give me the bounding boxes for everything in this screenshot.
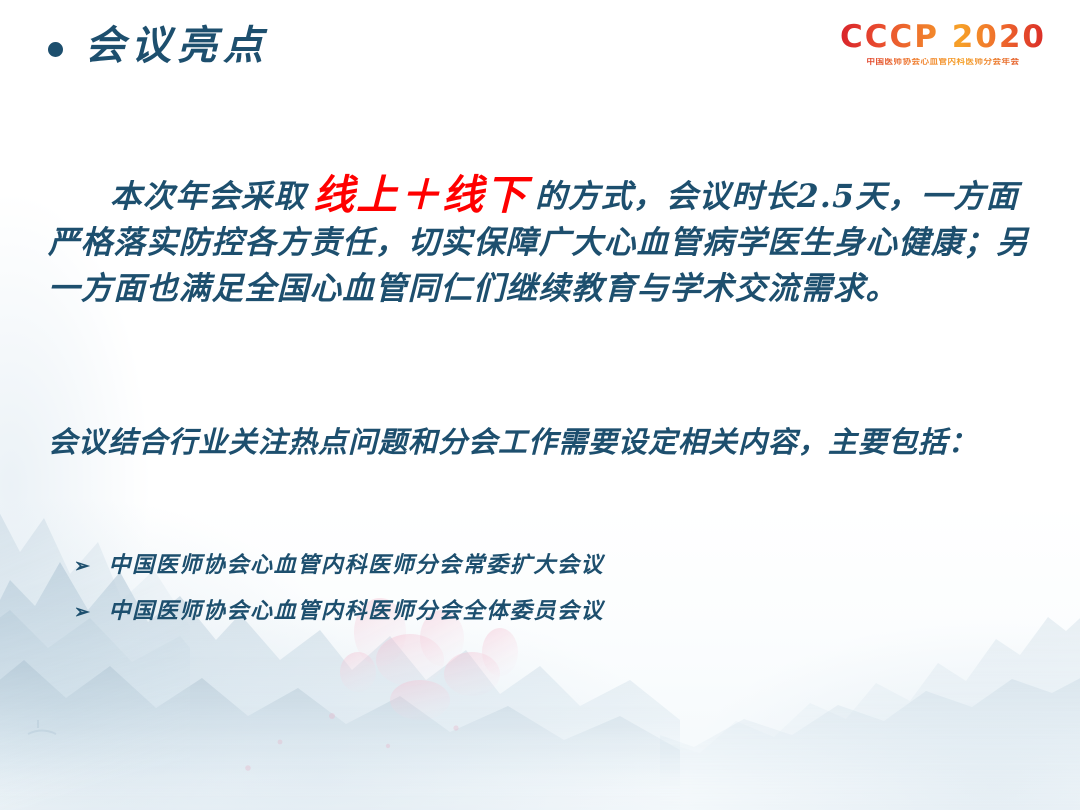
slide-title-row: 会议亮点 (48, 24, 269, 68)
logo-subtitle: 中国医师协会心血管内科医师分会年会 (840, 58, 1046, 67)
list-item-label: 中国医师协会心血管内科医师分会全体委员会议 (109, 596, 605, 626)
secondary-paragraph: 会议结合行业关注热点问题和分会工作需要设定相关内容，主要包括： (48, 418, 1038, 466)
logo-wordmark: CCCP 2020 (840, 22, 1046, 53)
intro-paragraph: 本次年会采取线上＋线下的方式，会议时长2.5天，一方面严格落实防控各方责任，切实… (48, 172, 1038, 312)
intro-paragraph-highlight: 线上＋线下 (306, 171, 535, 219)
presentation-slide: 会议亮点 CCCP 2020 中国医师协会心血管内科医师分会年会 本次年会采取线… (0, 0, 1080, 810)
list-item: ➢ 中国医师协会心血管内科医师分会常委扩大会议 (74, 550, 974, 580)
arrow-bullet-icon: ➢ (74, 603, 92, 622)
page-title: 会议亮点 (85, 24, 269, 68)
arrow-bullet-icon: ➢ (74, 557, 92, 576)
cccp-2020-logo: CCCP 2020 中国医师协会心血管内科医师分会年会 (840, 22, 1046, 67)
list-item-label: 中国医师协会心血管内科医师分会常委扩大会议 (109, 550, 605, 580)
filled-circle-bullet-icon (48, 42, 63, 57)
meeting-list: ➢ 中国医师协会心血管内科医师分会常委扩大会议 ➢ 中国医师协会心血管内科医师分… (74, 550, 974, 642)
list-item: ➢ 中国医师协会心血管内科医师分会全体委员会议 (74, 596, 974, 626)
intro-paragraph-pre: 本次年会采取 (110, 178, 306, 215)
